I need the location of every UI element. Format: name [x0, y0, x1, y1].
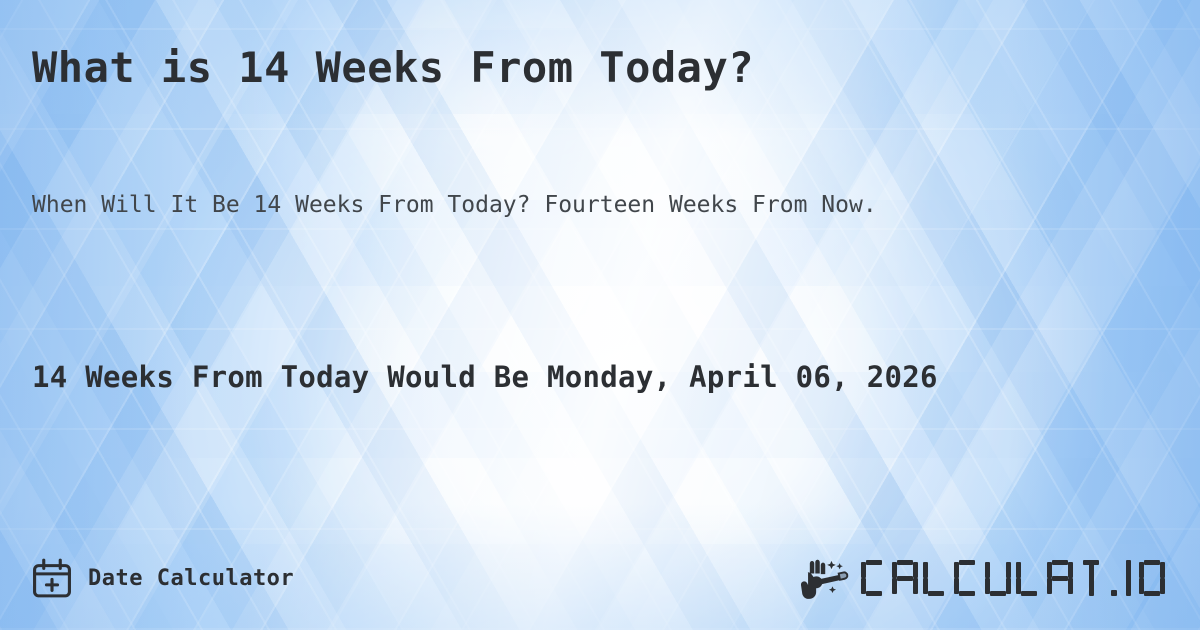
logo-char-c1 [861, 560, 887, 596]
open-graph-card: What is 14 Weeks From Today? When Will I… [0, 0, 1200, 630]
calendar-plus-icon [30, 556, 74, 600]
logo-char-a1 [892, 560, 918, 596]
page-subtitle: When Will It Be 14 Weeks From Today? Fou… [32, 186, 1107, 226]
logo-char-a2 [1047, 560, 1073, 596]
logo-char-l1 [923, 560, 949, 596]
brand-logo[interactable] [801, 556, 1170, 600]
answer-statement: 14 Weeks From Today Would Be Monday, Apr… [32, 356, 1152, 400]
logo-char-dot [1109, 560, 1119, 596]
card-content: What is 14 Weeks From Today? When Will I… [0, 0, 1200, 630]
logo-char-o [1139, 560, 1165, 596]
card-footer: Date Calculator [0, 550, 1200, 606]
date-calculator-link[interactable]: Date Calculator [30, 556, 294, 600]
page-title: What is 14 Weeks From Today? [32, 44, 1162, 91]
logo-char-t [1078, 560, 1104, 596]
brand-wordmark [861, 560, 1170, 596]
logo-char-u [985, 560, 1011, 596]
date-calculator-label: Date Calculator [88, 566, 294, 591]
magic-wand-hand-icon [801, 556, 853, 600]
logo-char-l2 [1016, 560, 1042, 596]
logo-char-c2 [954, 560, 980, 596]
logo-char-i [1124, 560, 1134, 596]
